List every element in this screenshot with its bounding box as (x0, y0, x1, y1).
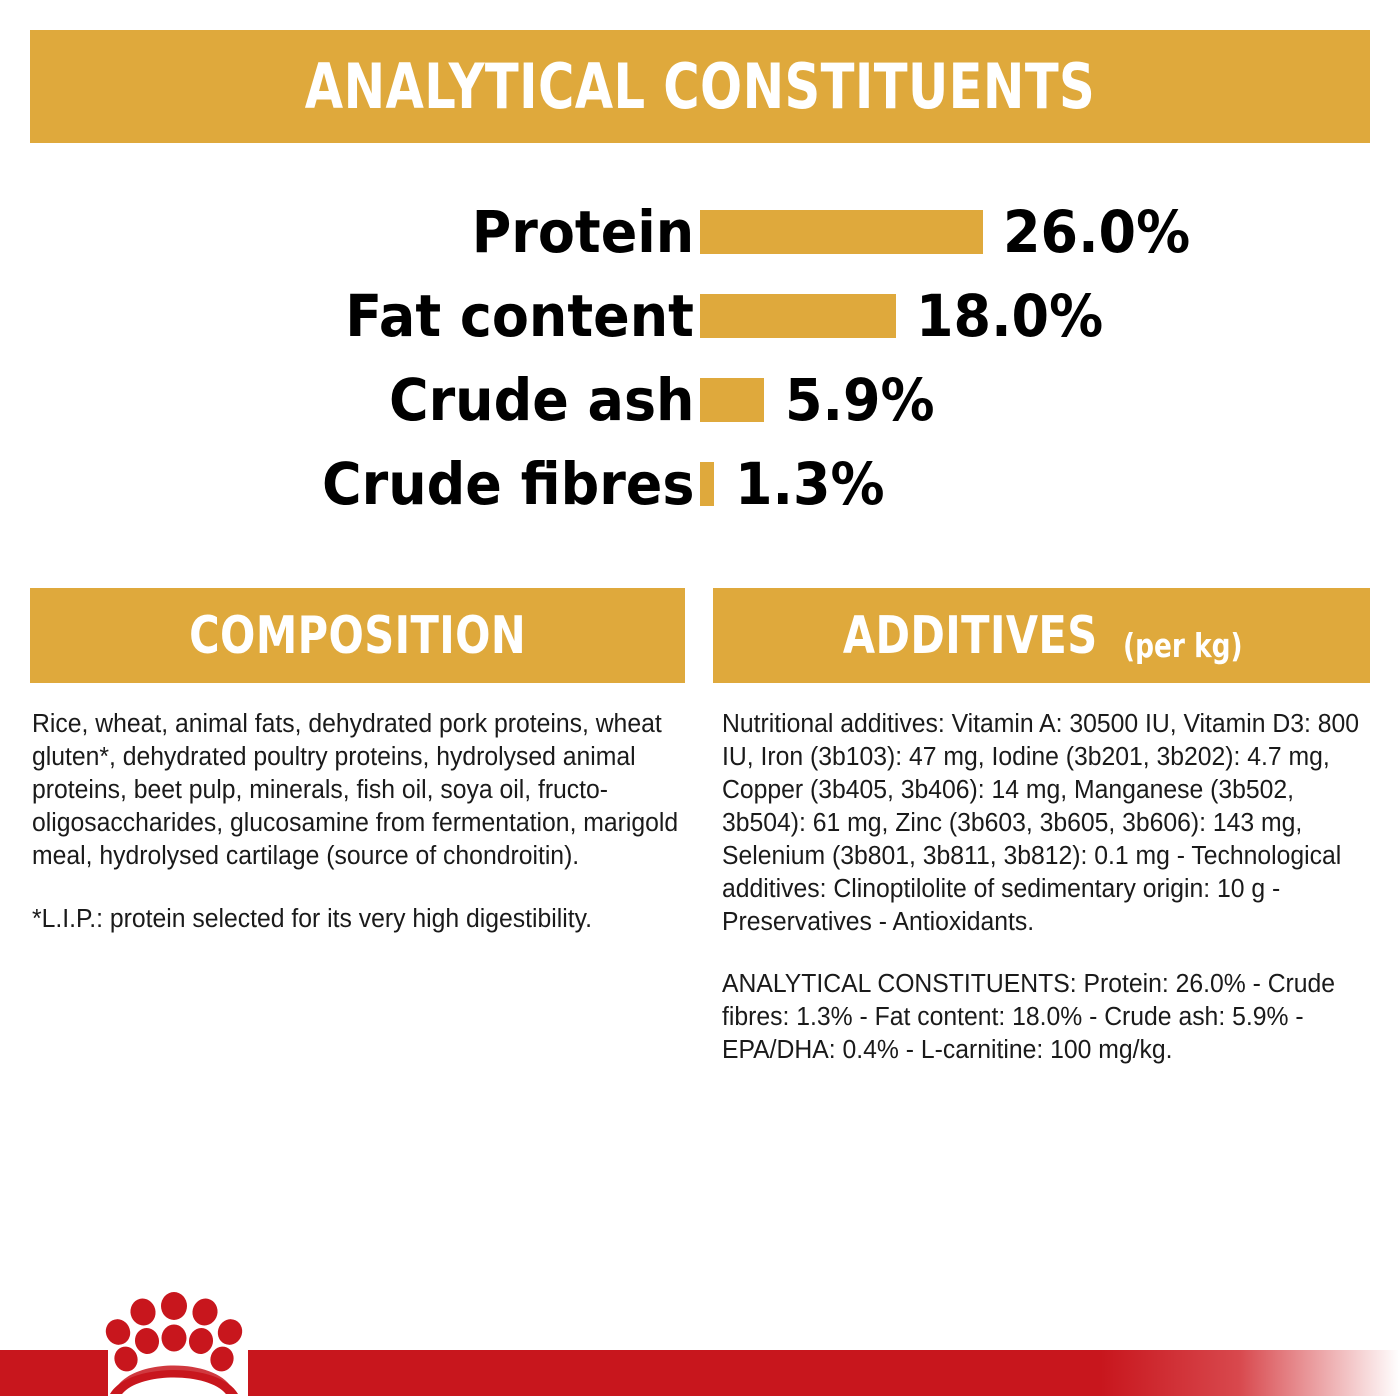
bar-fill-crude-fibres (700, 462, 714, 506)
bar-label-crude-fibres: Crude fibres (322, 442, 694, 526)
chart-row-crude-ash: Crude ash 5.9% (0, 358, 1400, 442)
additives-banner: ADDITIVES (per kg) (713, 588, 1370, 683)
chart-row-crude-fibres: Crude fibres 1.3% (0, 442, 1400, 526)
constituents-bar-chart: Protein 26.0% Fat content 18.0% Crude as… (0, 190, 1400, 535)
nutrition-panel: ANALYTICAL CONSTITUENTS Protein 26.0% Fa… (0, 0, 1400, 1400)
bar-value-crude-fibres: 1.3% (735, 442, 885, 526)
additives-heading-suffix: (per kg) (1123, 629, 1243, 662)
footer (0, 1290, 1400, 1400)
chart-row-fat-content: Fat content 18.0% (0, 274, 1400, 358)
bar-fill-crude-ash (700, 378, 764, 422)
additives-body-text: Nutritional additives: Vitamin A: 30500 … (722, 708, 1362, 939)
bar-track-crude-ash (700, 378, 764, 422)
additives-heading-group: ADDITIVES (per kg) (811, 610, 1273, 662)
bar-label-protein: Protein (472, 190, 694, 274)
footer-rule-left (0, 1350, 108, 1396)
additives-analytical-text: ANALYTICAL CONSTITUENTS: Protein: 26.0% … (722, 968, 1362, 1067)
bar-value-crude-ash: 5.9% (785, 358, 935, 442)
composition-heading: COMPOSITION (189, 610, 526, 662)
footer-rule-right (248, 1350, 1400, 1396)
composition-lip-note: *L.I.P.: protein selected for its very h… (32, 903, 684, 936)
bar-label-fat-content: Fat content (345, 274, 694, 358)
page-title: ANALYTICAL CONSTITUENTS (305, 56, 1095, 118)
bar-track-protein (700, 210, 983, 254)
chart-row-protein: Protein 26.0% (0, 190, 1400, 274)
bar-track-fat-content (700, 294, 896, 338)
bar-track-crude-fibres (700, 462, 714, 506)
bar-fill-fat-content (700, 294, 896, 338)
bar-value-protein: 26.0% (1003, 190, 1190, 274)
royal-canin-crown-icon (100, 1290, 248, 1400)
composition-body-text: Rice, wheat, animal fats, dehydrated por… (32, 708, 684, 873)
bar-fill-protein (700, 210, 983, 254)
additives-heading: ADDITIVES (842, 610, 1097, 662)
bar-label-crude-ash: Crude ash (389, 358, 694, 442)
bar-value-fat-content: 18.0% (916, 274, 1103, 358)
analytical-constituents-banner: ANALYTICAL CONSTITUENTS (30, 30, 1370, 143)
composition-banner: COMPOSITION (30, 588, 685, 683)
